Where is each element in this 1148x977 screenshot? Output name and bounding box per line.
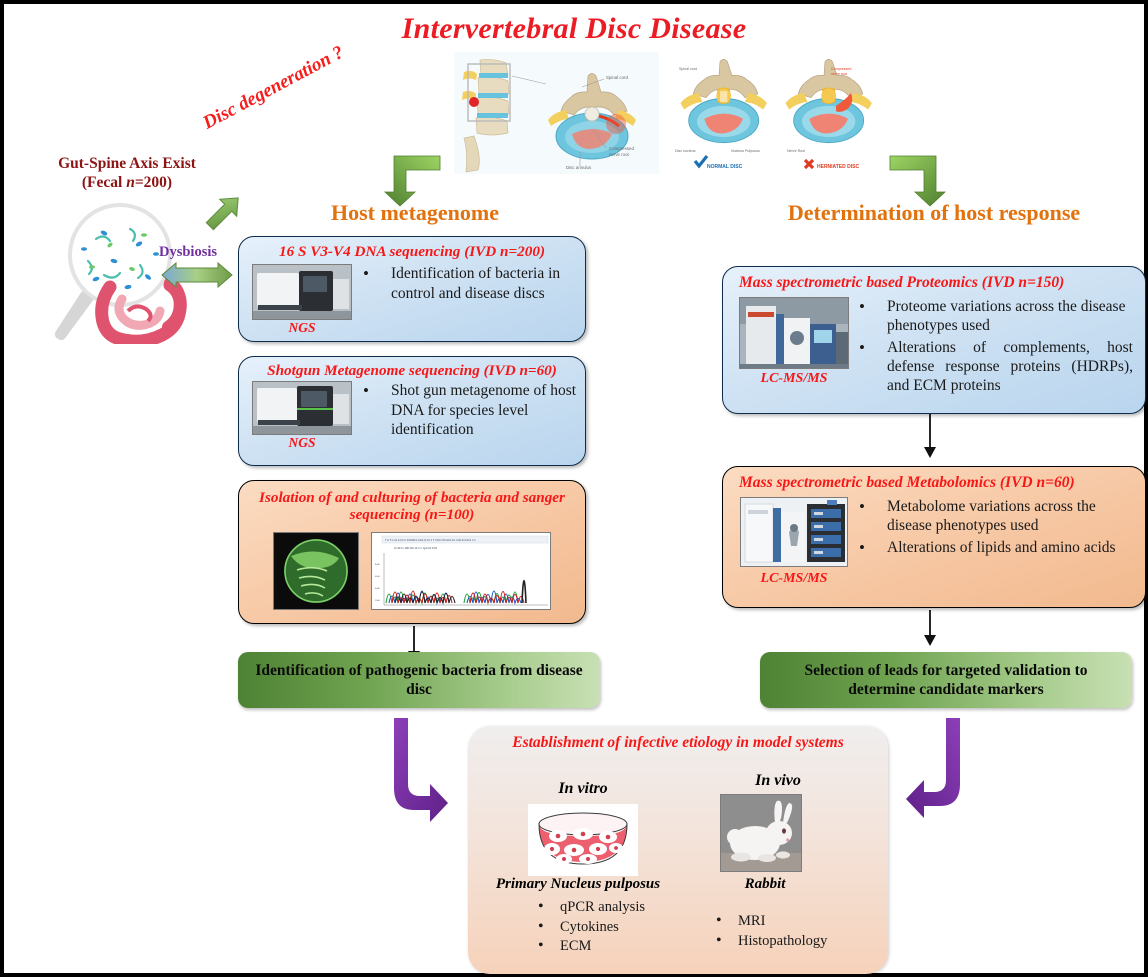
list-item: Histopathology <box>708 932 888 952</box>
svg-text:2000: 2000 <box>375 600 381 602</box>
svg-text:Spinal cord: Spinal cord <box>679 67 697 71</box>
arrow-left-to-model-systems <box>378 718 470 838</box>
list-item: Alterations of complements, host defense… <box>853 338 1133 396</box>
svg-text:4000: 4000 <box>375 588 381 590</box>
in-vitro-label: In vitro <box>508 780 658 798</box>
arrow-proteomics-to-metabolomics <box>920 414 940 460</box>
lc-ms-ms-instrument-photo <box>739 297 849 369</box>
arrow-to-host-response <box>886 152 968 208</box>
svg-text:Compressed: Compressed <box>831 67 851 71</box>
gut-title-line2: (Fecal n=200) <box>82 174 172 191</box>
box-proteomics[interactable]: Mass spectrometric based Proteomics (IVD… <box>722 266 1146 414</box>
box-proteomics-title: Mass spectrometric based Proteomics (IVD… <box>723 267 1145 295</box>
green-bar-identification[interactable]: Identification of pathogenic bacteria fr… <box>238 652 600 708</box>
svg-text:HERNIATED DISC: HERNIATED DISC <box>817 164 860 170</box>
in-vivo-sublabel: Rabbit <box>700 876 830 893</box>
bacterial-culture-plate-photo <box>273 532 359 610</box>
poster-frame: Intervertebral Disc Disease <box>0 0 1148 977</box>
list-item: ECM <box>530 937 710 957</box>
box-metabolomics-photo-caption: LC-MS/MS <box>735 567 853 587</box>
box-16s-sequencing[interactable]: 16 S V3-V4 DNA sequencing (IVD n=200) NG… <box>238 236 586 342</box>
svg-text:4v 90 1v 18: 4v 90 1v 180 N/A 13 2 1 1g4 t24 17M <box>394 546 437 550</box>
list-item: Identification of bacteria in control an… <box>357 264 577 303</box>
box-metabolomics[interactable]: Mass spectrometric based Metabolomics (I… <box>722 466 1146 608</box>
in-vivo-label: In vivo <box>708 772 848 790</box>
list-item: MRI <box>708 912 888 932</box>
box-proteomics-photo-caption: LC-MS/MS <box>735 369 853 387</box>
green-bar-selection[interactable]: Selection of leads for targeted validati… <box>760 652 1132 708</box>
svg-text:Spinal cord: Spinal cord <box>606 75 629 80</box>
arrow-gut-to-degeneration <box>196 189 252 235</box>
list-item: Shot gun metagenome of host DNA for spec… <box>357 381 577 439</box>
rabbit-photo <box>720 794 802 872</box>
dysbiosis-label: Dysbiosis <box>159 244 217 261</box>
in-vivo-bullets: MRI Histopathology <box>708 912 888 951</box>
disc-degeneration-label: Disc degeneration ? <box>200 41 351 135</box>
gut-spine-axis-title: Gut-Spine Axis Exist (Fecal n=200) <box>22 154 232 193</box>
gut-title-line1: Gut-Spine Axis Exist <box>58 155 196 172</box>
box-isolation-culturing[interactable]: Isolation of and culturing of bacteria a… <box>238 480 586 624</box>
in-vitro-sublabel: Primary Nucleus pulposus <box>478 876 678 893</box>
box-shotgun-photo-caption: NGS <box>247 435 357 451</box>
svg-text:T A T C A1 A C2 C KGM3C1: T A T C A1 A C2 C KGM3C1 AGA N C2 1 T C2… <box>385 538 476 542</box>
spine-herniation-illustration: Spinal cord Compressed nerve root Disc a… <box>454 52 659 174</box>
page-title: Intervertebral Disc Disease <box>4 12 1144 46</box>
list-item: Alterations of lipids and amino acids <box>853 538 1133 557</box>
list-item: Cytokines <box>530 918 710 938</box>
panel-model-systems[interactable]: Establishment of infective etiology in m… <box>468 726 888 974</box>
box-16s-photo-caption: NGS <box>247 320 357 336</box>
arrow-to-host-metagenome <box>362 152 444 208</box>
normal-vs-herniated-disc-illustration: Spinal cord Disc nucleus Nucleus Pulposu… <box>669 52 884 174</box>
svg-text:Nucleus Pulposus: Nucleus Pulposus <box>731 149 760 153</box>
box-shotgun-metagenome[interactable]: Shotgun Metagenome sequencing (IVD n=60) <box>238 356 586 466</box>
svg-text:nerve root: nerve root <box>831 72 847 76</box>
svg-text:6000: 6000 <box>375 576 381 578</box>
svg-text:NORMAL DISC: NORMAL DISC <box>707 164 743 170</box>
list-item: Proteome variations across the disease p… <box>853 297 1133 336</box>
lc-ms-ms-instrument-photo <box>740 497 848 567</box>
list-item: Metabolome variations across the disease… <box>853 497 1133 536</box>
list-item: qPCR analysis <box>530 898 710 918</box>
ngs-sequencer-photo <box>252 381 352 435</box>
box-16s-title: 16 S V3-V4 DNA sequencing (IVD n=200) <box>239 237 585 262</box>
cell-culture-dish-photo <box>528 804 638 876</box>
box-isolation-title: Isolation of and culturing of bacteria a… <box>239 481 585 528</box>
svg-text:Compressed: Compressed <box>609 146 634 151</box>
svg-text:Disc nucleus: Disc nucleus <box>675 149 696 153</box>
box-shotgun-bullets: Shot gun metagenome of host DNA for spec… <box>357 381 585 441</box>
box-proteomics-bullets: Proteome variations across the disease p… <box>853 295 1145 398</box>
arrow-right-to-model-systems <box>886 718 978 838</box>
box-metabolomics-title: Mass spectrometric based Metabolomics (I… <box>723 467 1145 495</box>
box-shotgun-title: Shotgun Metagenome sequencing (IVD n=60) <box>239 357 585 381</box>
svg-text:Disc annulus: Disc annulus <box>566 165 592 170</box>
ngs-sequencer-photo <box>252 264 352 320</box>
sanger-chromatogram-photo: T A T C A1 A C2 C KGM3C1 AGA N C2 1 T C2… <box>371 532 551 610</box>
arrow-metabolomics-to-selection <box>920 610 940 648</box>
box-metabolomics-bullets: Metabolome variations across the disease… <box>853 495 1145 559</box>
svg-text:nerve root: nerve root <box>609 152 630 157</box>
arrow-dysbiosis-bidirectional <box>160 262 234 288</box>
svg-text:Nerve Root: Nerve Root <box>787 149 805 153</box>
svg-text:8000: 8000 <box>375 564 381 566</box>
box-16s-bullets: Identification of bacteria in control an… <box>357 262 585 305</box>
in-vitro-bullets: qPCR analysis Cytokines ECM <box>530 898 710 957</box>
bottom-panel-title: Establishment of infective etiology in m… <box>468 726 888 753</box>
